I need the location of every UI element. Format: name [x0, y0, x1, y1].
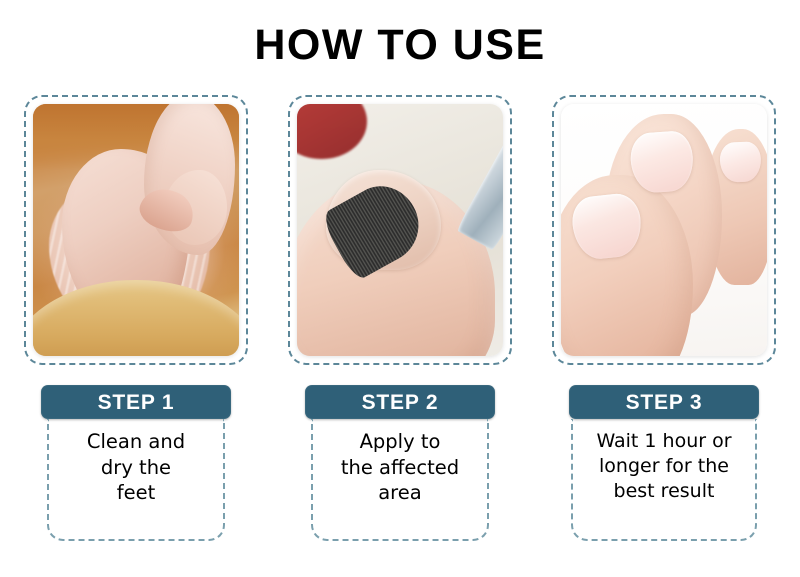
background-red-blob	[297, 104, 367, 159]
step-caption-box-3: Wait 1 hour or longer for the best resul…	[571, 419, 757, 541]
healthy-toenails-photo	[561, 104, 767, 356]
step-badge-label-3: STEP 3	[626, 392, 703, 413]
step-card-3: STEP 3 Wait 1 hour or longer for the bes…	[552, 95, 776, 541]
step-badge-3: STEP 3	[569, 385, 759, 419]
step-caption-box-2: Apply to the affected area	[311, 419, 489, 541]
step-caption-text-2: Apply to the affected area	[341, 429, 459, 506]
photo-frame-1	[24, 95, 248, 365]
step-caption-text-1: Clean and dry the feet	[87, 429, 185, 506]
foot-soaking-in-wooden-basin-photo	[33, 104, 239, 356]
step-badge-label-2: STEP 2	[362, 392, 439, 413]
step-badge-1: STEP 1	[41, 385, 231, 419]
photo-frame-3	[552, 95, 776, 365]
page-title: HOW TO USE	[0, 24, 800, 67]
step-card-1: STEP 1 Clean and dry the feet	[24, 95, 248, 541]
step-badge-label-1: STEP 1	[98, 392, 175, 413]
brush-applying-to-toenail-photo	[297, 104, 503, 356]
step-caption-text-3: Wait 1 hour or longer for the best resul…	[596, 429, 731, 504]
steps-row: STEP 1 Clean and dry the feet STEP 2	[24, 95, 776, 541]
step-caption-box-1: Clean and dry the feet	[47, 419, 225, 541]
step-card-2: STEP 2 Apply to the affected area	[288, 95, 512, 541]
how-to-use-poster: HOW TO USE STEP 1 Clean and dry the	[0, 0, 800, 577]
photo-frame-2	[288, 95, 512, 365]
brush-handle	[456, 104, 503, 251]
step-badge-2: STEP 2	[305, 385, 495, 419]
toenail-small	[719, 141, 762, 183]
